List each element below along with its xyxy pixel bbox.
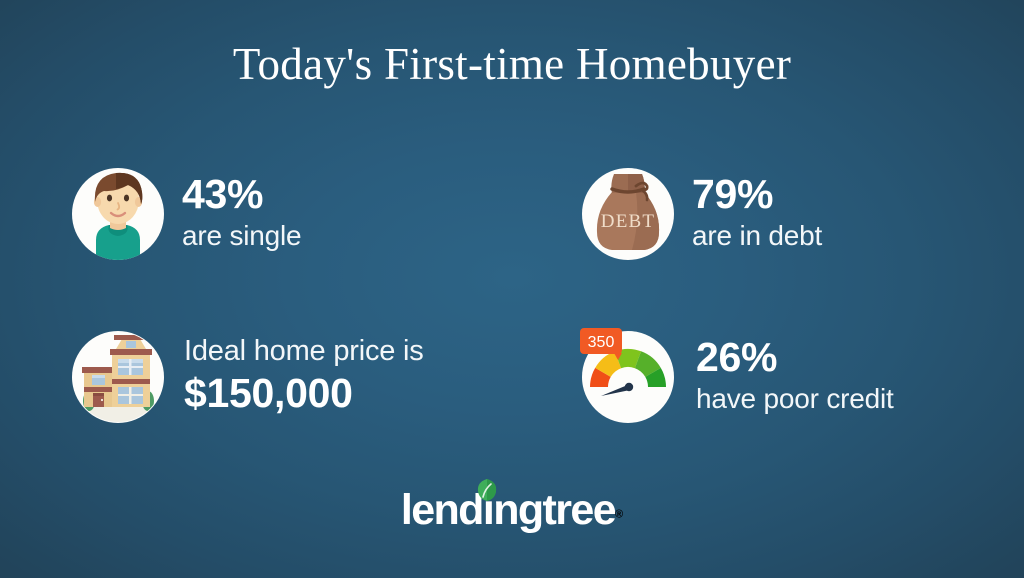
stat-label-home-price: Ideal home price is <box>184 337 424 366</box>
credit-score-gauge-art: 350 <box>578 325 678 425</box>
stat-block-single: 43% are single <box>68 162 301 262</box>
person-avatar-icon <box>68 162 168 262</box>
page-title: Today's First-time Homebuyer <box>0 38 1024 90</box>
stat-text-debt: 79% are in debt <box>692 174 822 250</box>
stat-text-single: 43% are single <box>182 174 301 250</box>
stat-label-debt: are in debt <box>692 222 822 250</box>
stat-value-single: 43% <box>182 174 301 215</box>
stat-value-debt: 79% <box>692 174 822 215</box>
credit-score-badge: 350 <box>580 328 622 360</box>
stat-label-poor-credit: have poor credit <box>696 385 894 413</box>
brand-logo: lendingtree® <box>0 487 1024 533</box>
stat-label-single: are single <box>182 222 301 250</box>
logo-wordmark: lendingtree <box>401 486 615 534</box>
stat-block-debt: DEBT 79% are in debt <box>578 162 822 262</box>
house-icon <box>68 325 168 425</box>
stat-value-poor-credit: 26% <box>696 337 894 378</box>
money-bag-art: DEBT <box>578 162 678 262</box>
leaf-icon <box>476 478 498 502</box>
stat-text-home-price: Ideal home price is $150,000 <box>184 337 424 414</box>
house-art <box>68 325 168 425</box>
person-avatar-art <box>68 162 168 262</box>
stat-block-home-price: Ideal home price is $150,000 <box>68 325 424 425</box>
credit-score-gauge-icon: 350 <box>578 325 678 425</box>
logo-trademark: ® <box>615 509 623 521</box>
money-bag-label: DEBT <box>601 211 655 232</box>
stat-block-poor-credit: 350 26% have poor credit <box>578 325 894 425</box>
stat-text-poor-credit: 26% have poor credit <box>696 337 894 413</box>
credit-score-badge-label: 350 <box>588 334 615 351</box>
infographic-canvas: Today's First-time Homebuyer <box>0 0 1024 578</box>
money-bag-icon: DEBT <box>578 162 678 262</box>
stat-value-home-price: $150,000 <box>184 373 424 414</box>
